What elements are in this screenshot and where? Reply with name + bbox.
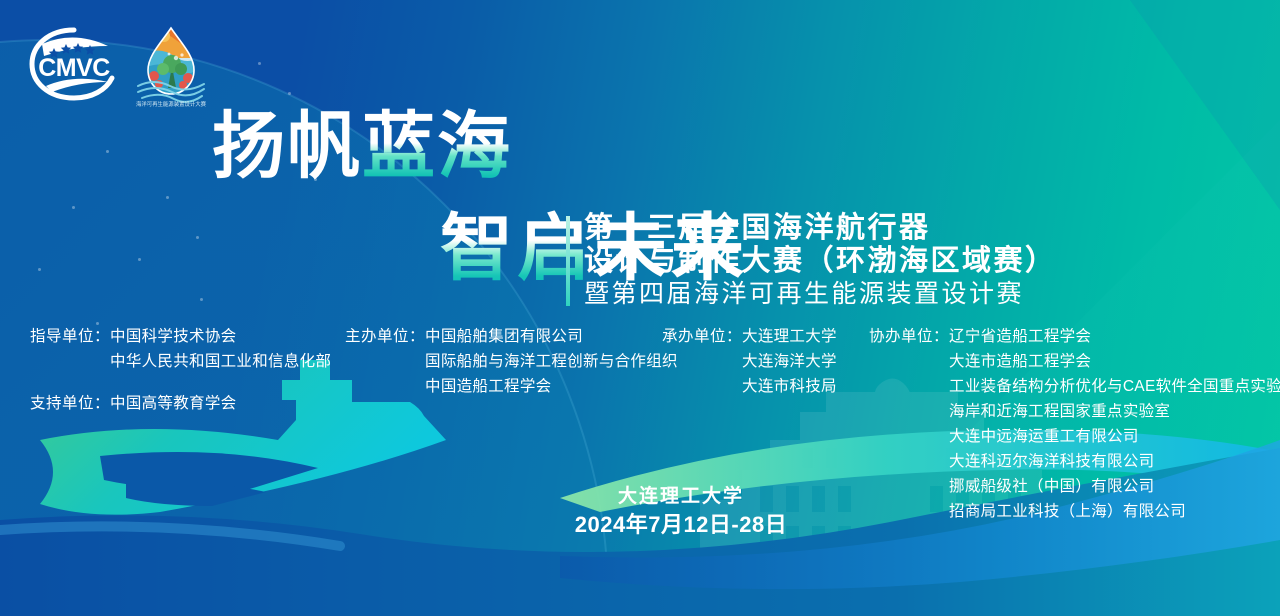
organizer-item: 中国造船工程学会 [425, 374, 678, 399]
event-date: 2024年7月12日-28日 [566, 510, 796, 540]
subtitle-block: 第十三届全国海洋航行器 设计与制作大赛（环渤海区域赛） 暨第四届海洋可再生能源装… [584, 212, 1057, 310]
organizer-item: 海岸和近海工程国家重点实验室 [949, 399, 1280, 424]
organizer-label: 支持单位： [30, 391, 110, 416]
organizer-item: 中国船舶集团有限公司 [425, 324, 678, 349]
subtitle-line-3: 暨第四届海洋可再生能源装置设计赛 [584, 278, 1057, 310]
organizer-item: 辽宁省造船工程学会 [949, 324, 1280, 349]
organizer-item: 大连市科技局 [742, 374, 837, 399]
organizer-item: 中国科学技术协会 [110, 324, 331, 349]
organizer-group: 指导单位： 中国科学技术协会 中华人民共和国工业和信息化部 [30, 324, 331, 374]
organizer-item: 中华人民共和国工业和信息化部 [110, 349, 331, 374]
organizer-group: 支持单位： 中国高等教育学会 [30, 391, 331, 416]
organizer-item: 国际船舶与海洋工程创新与合作组织 [425, 349, 678, 374]
organizer-items: 中国船舶集团有限公司 国际船舶与海洋工程创新与合作组织 中国造船工程学会 [425, 324, 678, 399]
organizer-column-guidance: 指导单位： 中国科学技术协会 中华人民共和国工业和信息化部 支持单位： 中国高等… [30, 324, 331, 416]
cmvc-logo: CMVC [28, 24, 120, 104]
organizer-item: 挪威船级社（中国）有限公司 [949, 474, 1280, 499]
organizer-item: 中国高等教育学会 [110, 391, 236, 416]
organizer-item: 招商局工业科技（上海）有限公司 [949, 499, 1280, 524]
organizer-column-undertaker: 承办单位： 大连理工大学 大连海洋大学 大连市科技局 [662, 324, 837, 399]
event-footer: 大连理工大学 2024年7月12日-28日 [566, 484, 796, 540]
main-title-line1-part2: 蓝海 [362, 106, 512, 187]
organizer-label: 主办单位： [345, 324, 425, 349]
organizer-item: 大连海洋大学 [742, 349, 837, 374]
organizer-item: 大连理工大学 [742, 324, 837, 349]
organizer-items: 中国科学技术协会 中华人民共和国工业和信息化部 [110, 324, 331, 374]
organizer-label: 承办单位： [662, 324, 742, 349]
organizer-label: 指导单位： [30, 324, 110, 374]
logo-group: CMVC [28, 24, 208, 108]
subtitle-line-2: 设计与制作大赛（环渤海区域赛） [584, 245, 1057, 278]
organizer-label: 协办单位： [869, 324, 949, 349]
subtitle-line-1: 第十三届全国海洋航行器 [584, 212, 1057, 245]
svg-text:CMVC: CMVC [38, 54, 110, 82]
event-venue: 大连理工大学 [566, 484, 796, 510]
organizer-item: 大连市造船工程学会 [949, 349, 1280, 374]
organizer-items: 中国高等教育学会 [110, 391, 236, 416]
organizer-item: 大连中远海运重工有限公司 [949, 424, 1280, 449]
main-title-line1-part1: 扬帆 [212, 106, 362, 187]
organizer-item: 大连科迈尔海洋科技有限公司 [949, 449, 1280, 474]
organizer-items: 大连理工大学 大连海洋大学 大连市科技局 [742, 324, 837, 399]
organizer-items: 辽宁省造船工程学会 大连市造船工程学会 工业装备结构分析优化与CAE软件全国重点… [949, 324, 1280, 524]
organizer-column-host: 主办单位： 中国船舶集团有限公司 国际船舶与海洋工程创新与合作组织 中国造船工程… [345, 324, 678, 399]
event-poster: CMVC [0, 0, 1280, 616]
title-block: 扬帆蓝海 智启未来 第十三届全国海洋航行器 设计与制作大赛（环渤海区域赛） 暨第… [0, 104, 1280, 304]
organizer-item: 工业装备结构分析优化与CAE软件全国重点实验室 [949, 374, 1280, 399]
ocean-energy-logo: 海洋可再生能源装置设计大赛 [134, 24, 208, 108]
main-title-line1: 扬帆蓝海 [212, 110, 512, 184]
main-title-line2-part1: 智启 [440, 208, 594, 289]
subtitle-divider [566, 216, 570, 306]
organizer-column-coorganizer: 协办单位： 辽宁省造船工程学会 大连市造船工程学会 工业装备结构分析优化与CAE… [869, 324, 1280, 524]
